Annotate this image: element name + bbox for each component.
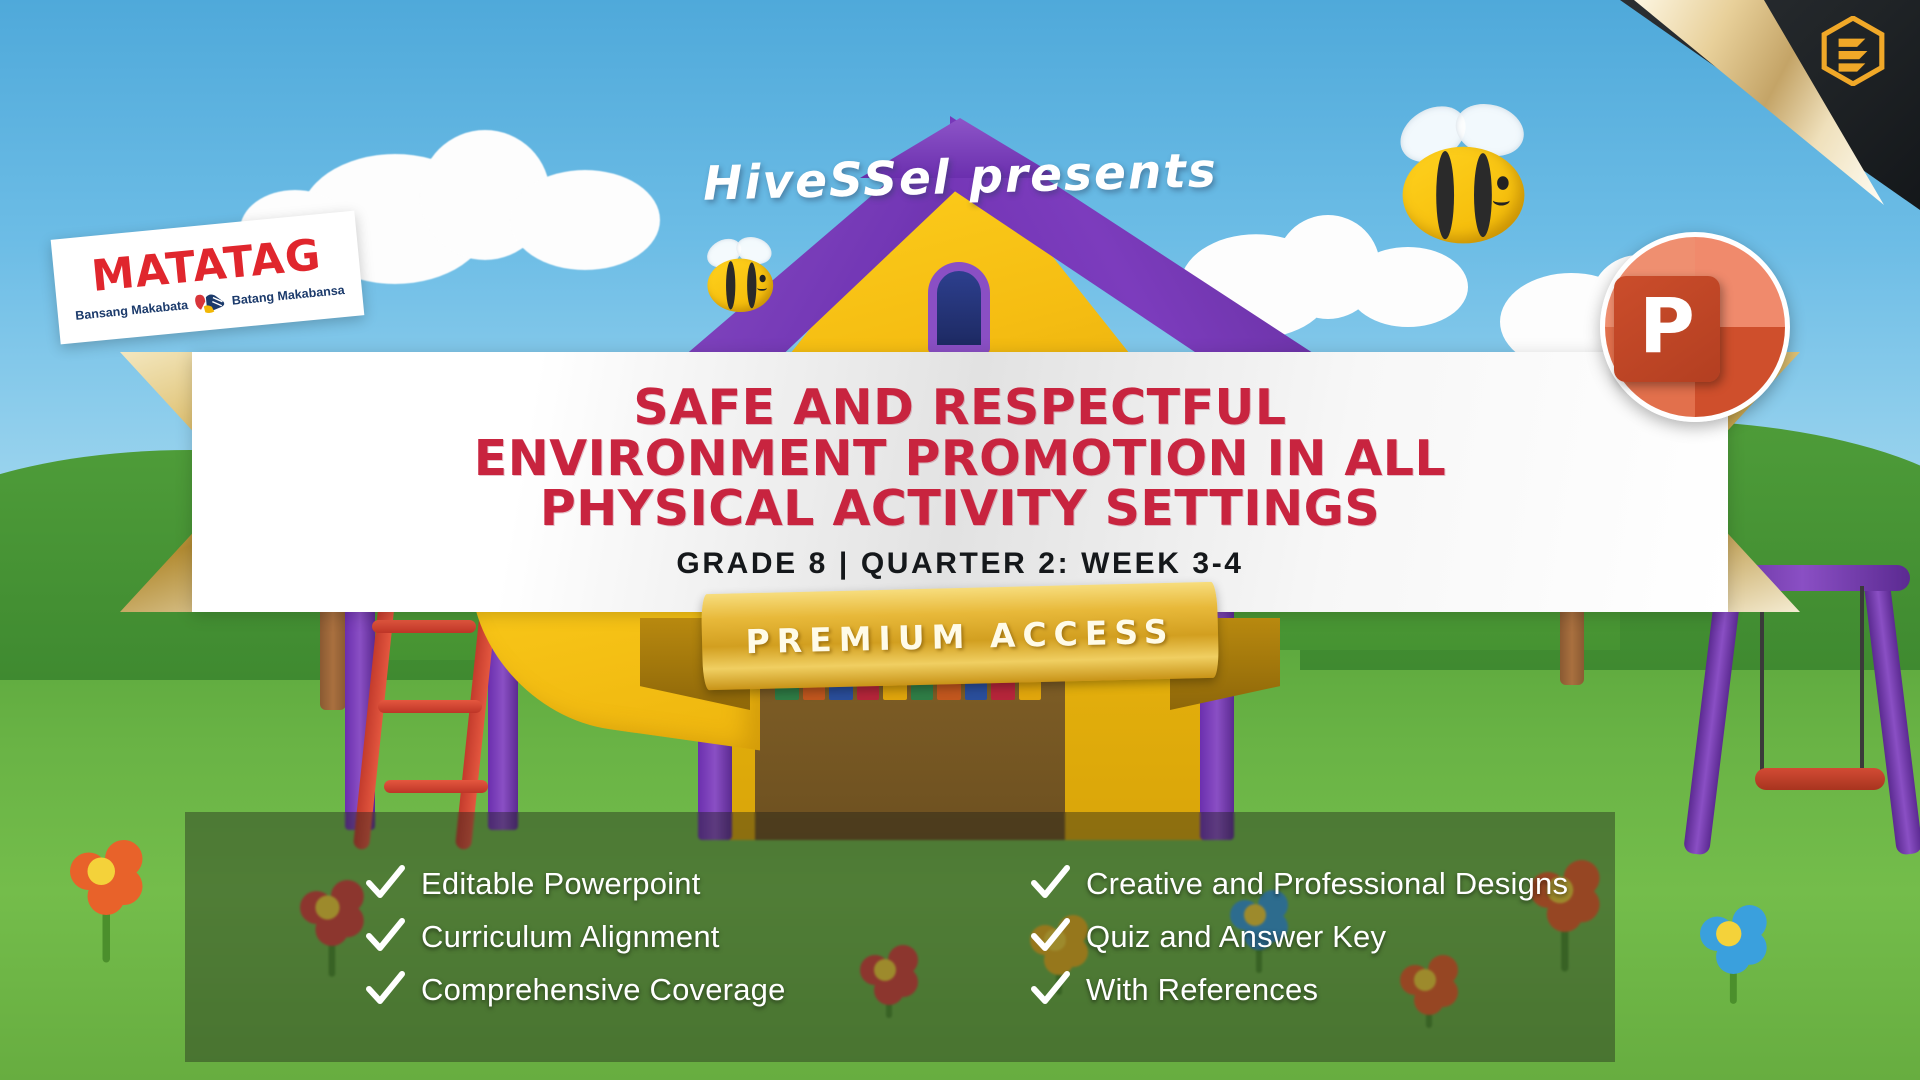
check-icon [1030,917,1070,957]
feature-item: Creative and Professional Designs [1030,864,1615,904]
premium-access-ribbon: PREMIUM ACCESS [640,588,1280,710]
feature-item: Quiz and Answer Key [1030,917,1615,957]
check-icon [1030,970,1070,1010]
powerpoint-icon: P [1600,232,1790,422]
powerpoint-letter: P [1639,288,1695,364]
brand-presents-text: HiveSSel presents [702,143,1218,211]
feature-label: Quiz and Answer Key [1086,919,1386,955]
hivessel-hex-logo-icon [1820,16,1886,86]
check-icon [365,864,405,904]
check-icon [365,917,405,957]
feature-label: With References [1086,972,1318,1008]
feature-item: Curriculum Alignment [365,917,950,957]
features-panel: Editable Powerpoint Curriculum Alignment… [185,812,1615,1062]
feature-label: Curriculum Alignment [421,919,720,955]
powerpoint-tile: P [1614,276,1720,382]
page-title-line-3: PHYSICAL ACTIVITY SETTINGS [540,484,1380,535]
page-title-line-2: ENVIRONMENT PROMOTION IN ALL [474,434,1447,485]
matatag-tagline-left: Bansang Makabata [75,298,189,323]
feature-label: Creative and Professional Designs [1086,866,1568,902]
ribbon-body: PREMIUM ACCESS [701,582,1219,691]
check-icon [1030,864,1070,904]
presents-header: HiveSSel presents [0,150,1920,205]
matatag-tagline-right: Batang Makabansa [231,282,345,307]
check-icon [365,970,405,1010]
banner-core: SAFE AND RESPECTFUL ENVIRONMENT PROMOTIO… [192,352,1728,612]
hands-heart-emblem-icon [192,289,228,316]
feature-item: With References [1030,970,1615,1010]
features-right-column: Creative and Professional Designs Quiz a… [950,830,1615,1044]
feature-item: Editable Powerpoint [365,864,950,904]
feature-label: Comprehensive Coverage [421,972,786,1008]
feature-label: Editable Powerpoint [421,866,701,902]
grade-quarter-subtitle: GRADE 8 | QUARTER 2: WEEK 3-4 [676,547,1243,581]
feature-item: Comprehensive Coverage [365,970,950,1010]
page-title-line-1: SAFE AND RESPECTFUL [633,383,1286,434]
features-left-column: Editable Powerpoint Curriculum Alignment… [185,830,950,1044]
premium-access-label: PREMIUM ACCESS [745,611,1175,660]
